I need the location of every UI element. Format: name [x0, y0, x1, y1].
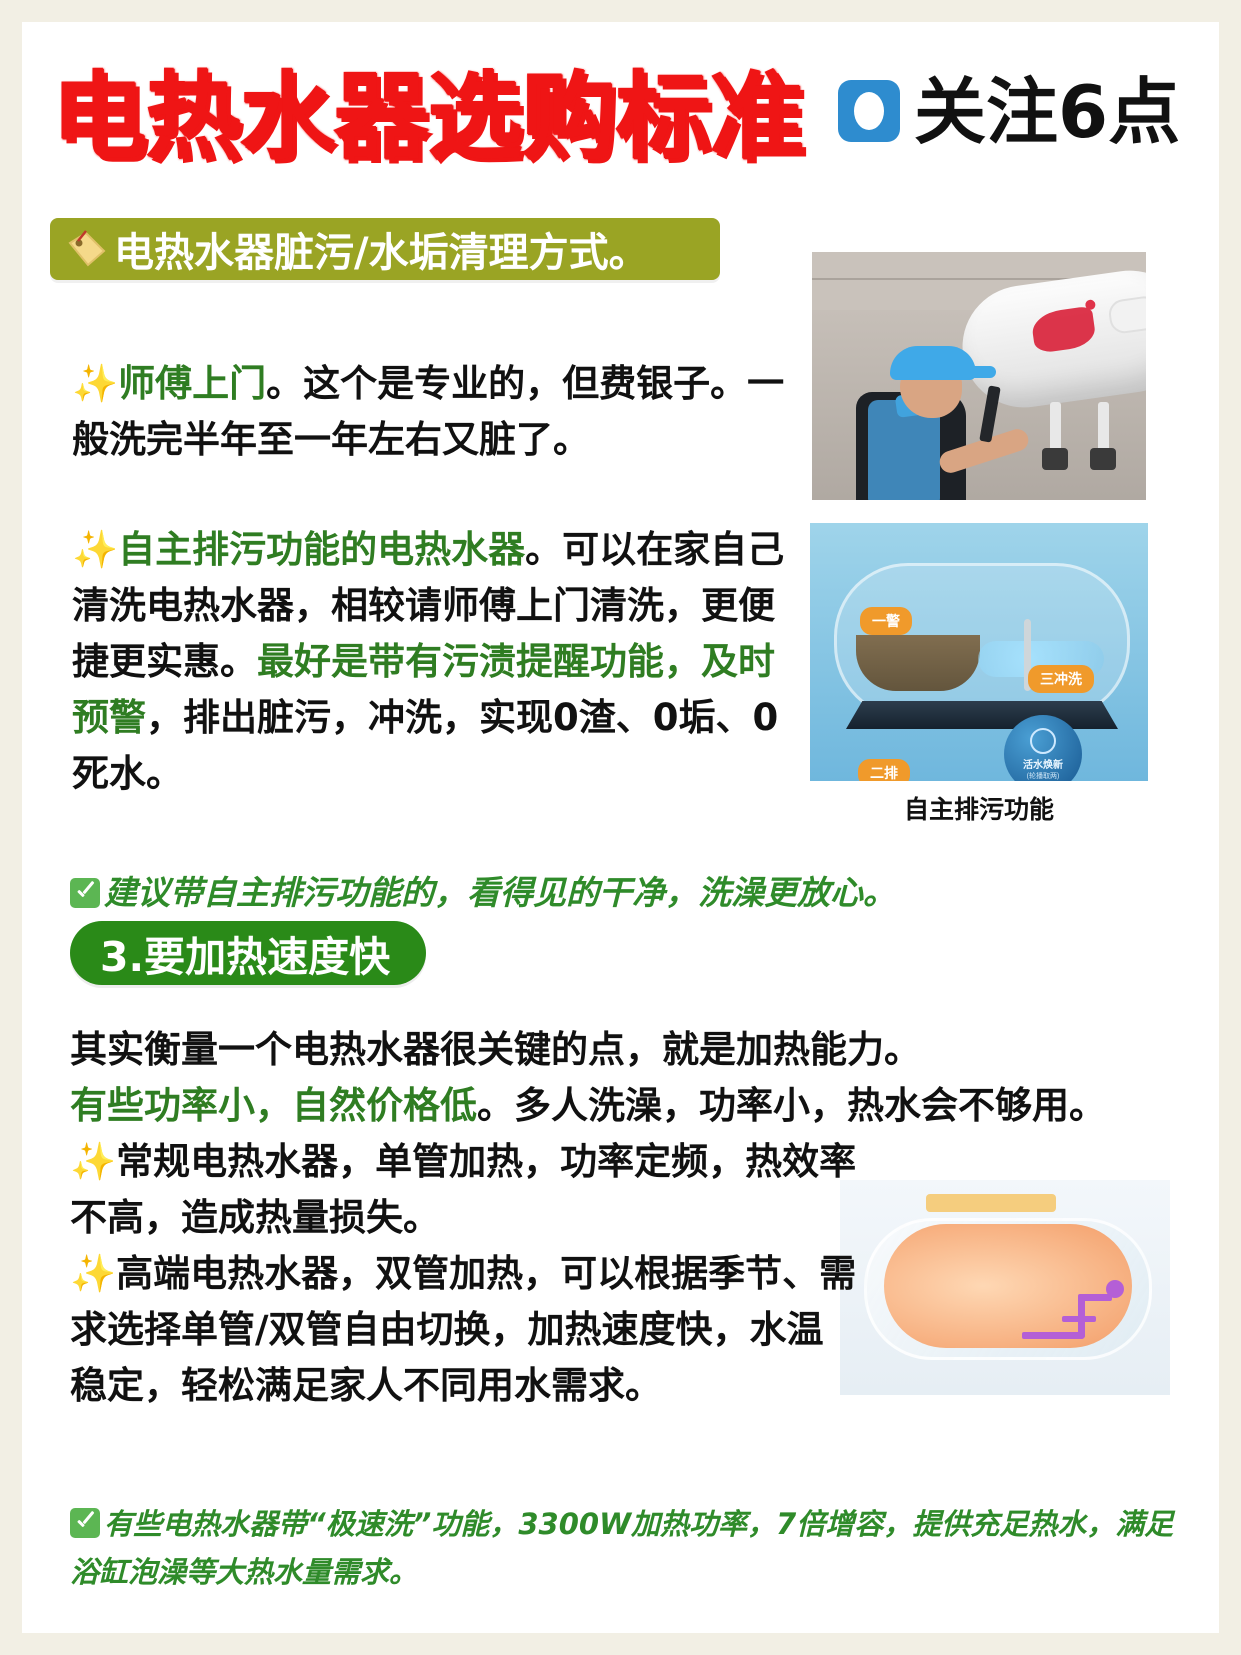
section-heading-3-label: 3.要加热速度快 [100, 923, 390, 983]
sparkle-icon: ✨ [70, 1252, 116, 1295]
green-check-icon [70, 1508, 100, 1538]
diagram-label-2: 二排 [858, 759, 910, 781]
tag-icon [64, 229, 110, 269]
self-draining-tank-diagram: 活水焕新 (轮播取两) 一警 三冲洗 二排 [810, 523, 1148, 781]
blue-rounded-square-icon [838, 80, 900, 142]
recommendation-line-2-text: 有些电热水器带“极速洗”功能，3300W加热功率，7倍增容，提供充足热水，满足浴… [70, 1507, 1173, 1589]
recommendation-line-2: 有些电热水器带“极速洗”功能，3300W加热功率，7倍增容，提供充足热水，满足浴… [70, 1500, 1180, 1596]
poster-page: 电热水器选购标准 关注6点 电热水器脏污/水垢清理方式。 [22, 22, 1219, 1633]
paragraph-dual-tube-text1: 常规电热水器，单管加热，功率定频，热效率不高，造成热量损失。 [70, 1140, 856, 1239]
diagram-label-3: 三冲洗 [1028, 665, 1094, 693]
sparkle-icon: ✨ [72, 528, 118, 571]
paragraph-self-draining: ✨自主排污功能的电热水器。可以在家自己清洗电热水器，相较请师傅上门清洗，更便捷更… [72, 522, 788, 802]
diagram-label-1: 一警 [860, 607, 912, 635]
section-banner-cleaning-methods: 电热水器脏污/水垢清理方式。 [50, 218, 720, 280]
image-caption-self-draining: 自主排污功能 [810, 790, 1148, 826]
title-sub-text: 关注6点 [914, 76, 1180, 148]
paragraph-dual-tube-text2: 高端电热水器，双管加热，可以根据季节、需求选择单管/双管自由切换，加热速度快，水… [70, 1252, 856, 1407]
paragraph-technician-visit: ✨师傅上门。这个是专业的，但费银子。一般洗完半年至一年左右又脏了。 [72, 356, 792, 468]
water-wave-icon [1030, 728, 1056, 754]
dual-tube-heating-tank-diagram [840, 1180, 1170, 1395]
recommendation-line-1-text: 建议带自主排污功能的，看得见的干净，洗澡更放心。 [104, 873, 896, 912]
paragraph-self-draining-green1: 自主排污功能的电热水器 [118, 528, 525, 571]
paragraph-heating-ability-line1: 其实衡量一个电热水器很关键的点，就是加热能力。 [70, 1028, 921, 1071]
paragraph-heating-ability-green: 有些功率小，自然价格低 [70, 1084, 477, 1127]
paragraph-technician-visit-green: 师傅上门 [118, 362, 266, 405]
page-title: 电热水器选购标准 关注6点 [32, 64, 1212, 176]
sparkle-icon: ✨ [70, 1140, 116, 1183]
paragraph-self-draining-black2: ，排出脏污，冲洗，实现0渣、0垢、0死水。 [72, 696, 778, 795]
paragraph-heating-ability-black: 。多人洗澡，功率小，热水会不够用。 [477, 1084, 1106, 1127]
paragraph-dual-tube: ✨常规电热水器，单管加热，功率定频，热效率不高，造成热量损失。 ✨高端电热水器，… [70, 1134, 860, 1414]
title-main-text: 电热水器选购标准 [52, 64, 804, 172]
orb-label: 活水焕新 [1023, 756, 1063, 771]
orb-sublabel: (轮播取两) [1027, 771, 1060, 781]
paragraph-heating-ability: 其实衡量一个电热水器很关键的点，就是加热能力。 有些功率小，自然价格低。多人洗澡… [70, 1022, 1110, 1134]
banner-label: 电热水器脏污/水垢清理方式。 [114, 220, 649, 278]
recommendation-line-1: 建议带自主排污功能的，看得见的干净，洗澡更放心。 [70, 868, 1180, 918]
technician-servicing-water-heater-photo [812, 252, 1146, 500]
sparkle-icon: ✨ [72, 362, 118, 405]
section-heading-3: 3.要加热速度快 [70, 921, 426, 985]
green-check-icon [70, 878, 100, 908]
